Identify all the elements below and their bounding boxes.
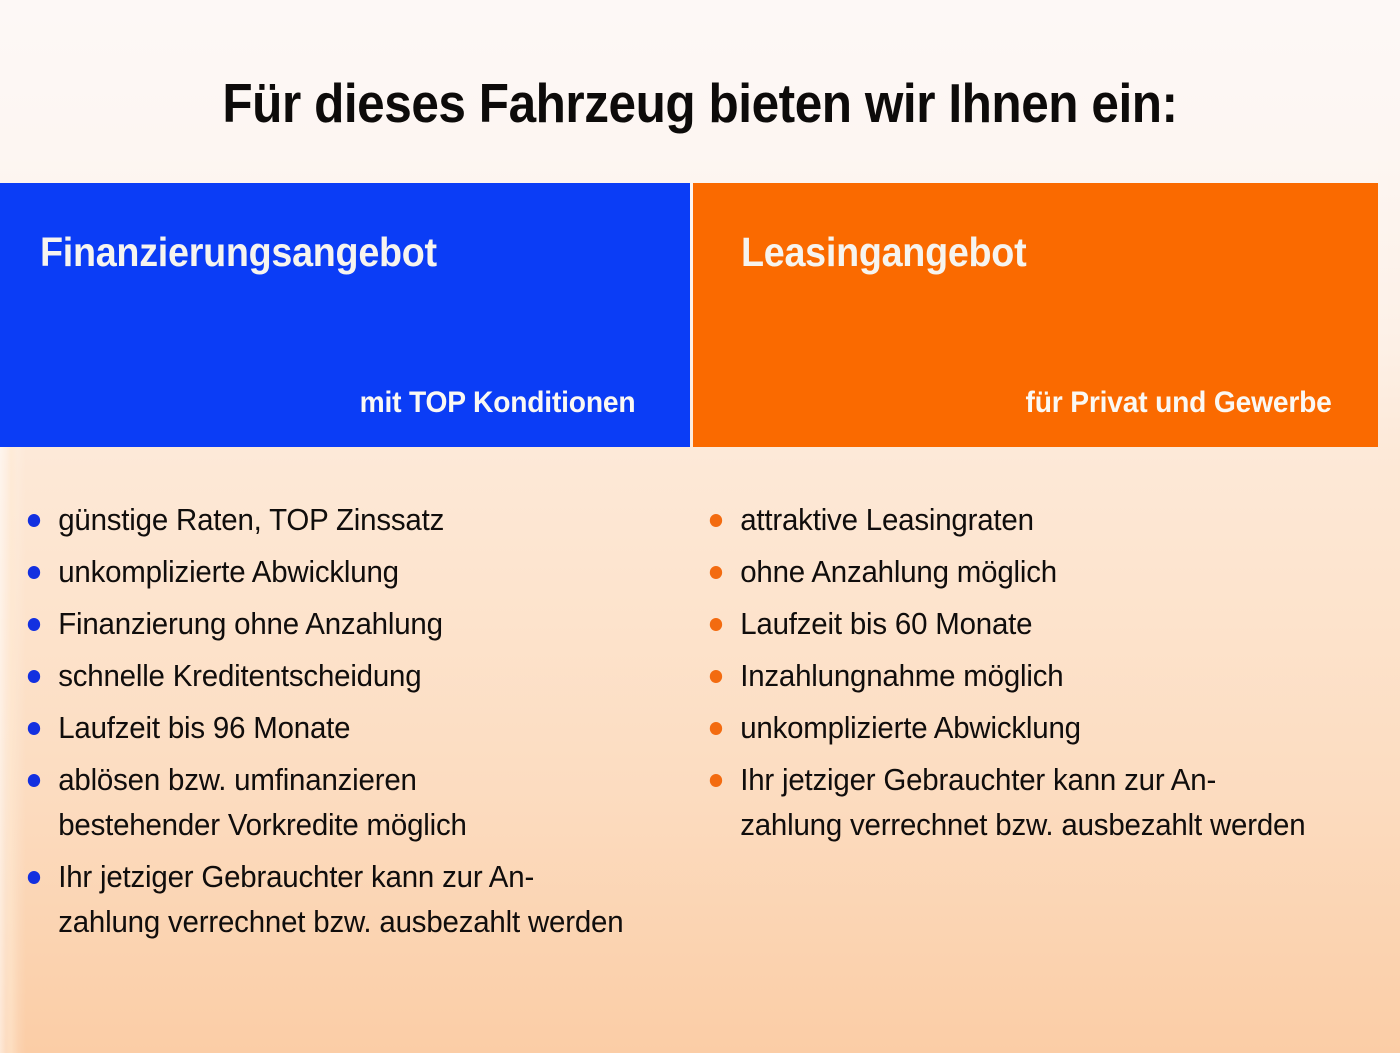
bullet-dot-icon: [28, 618, 40, 631]
bullet-dot-icon: [710, 722, 722, 735]
list-item: Laufzeit bis 60 Monate: [706, 601, 1343, 646]
list-item-line: bestehender Vorkredite möglich: [58, 802, 651, 847]
list-item-line: ablösen bzw. umfinanzieren: [58, 757, 651, 802]
list-item-line: ohne Anzahlung möglich: [740, 549, 1342, 594]
lease-benefits-list: attraktive Leasingraten ohne Anzahlung m…: [706, 497, 1376, 854]
list-item: Ihr jetziger Gebrauchter kann zur An- za…: [706, 757, 1343, 847]
bullet-dot-icon: [710, 670, 722, 683]
list-item-line: attraktive Leasingraten: [740, 497, 1342, 542]
finance-benefits-list: günstige Raten, TOP Zinssatz unkomplizie…: [24, 497, 684, 951]
bullet-dot-icon: [710, 618, 722, 631]
list-item-line: Finanzierung ohne Anzahlung: [58, 601, 651, 646]
list-item-line: günstige Raten, TOP Zinssatz: [58, 497, 651, 542]
list-item-line: Laufzeit bis 96 Monate: [58, 705, 651, 750]
bullet-dot-icon: [28, 774, 40, 787]
list-item-line: Ihr jetziger Gebrauchter kann zur An-: [58, 854, 651, 899]
list-item: schnelle Kreditentscheidung: [24, 653, 651, 698]
page-title: Für dieses Fahrzeug bieten wir Ihnen ein…: [70, 72, 1330, 134]
list-item: attraktive Leasingraten: [706, 497, 1343, 542]
list-item-line: Ihr jetziger Gebrauchter kann zur An-: [740, 757, 1342, 802]
finance-offer-panel: Finanzierungsangebot mit TOP Konditionen: [0, 183, 690, 447]
bullet-dot-icon: [28, 722, 40, 735]
list-item-line: schnelle Kreditentscheidung: [58, 653, 651, 698]
bullet-dot-icon: [28, 670, 40, 683]
list-item-line: zahlung verrechnet bzw. ausbezahlt werde…: [58, 899, 651, 944]
bullet-dot-icon: [28, 514, 40, 527]
list-item: Inzahlungnahme möglich: [706, 653, 1343, 698]
offer-poster: Für dieses Fahrzeug bieten wir Ihnen ein…: [0, 0, 1400, 1053]
bullet-dot-icon: [710, 514, 722, 527]
list-item: Ihr jetziger Gebrauchter kann zur An- za…: [24, 854, 651, 944]
list-item: Finanzierung ohne Anzahlung: [24, 601, 651, 646]
bullet-dot-icon: [28, 566, 40, 579]
list-item: unkomplizierte Abwicklung: [24, 549, 651, 594]
bullet-dot-icon: [28, 871, 40, 884]
list-item: Laufzeit bis 96 Monate: [24, 705, 651, 750]
list-item-line: zahlung verrechnet bzw. ausbezahlt werde…: [740, 802, 1342, 847]
list-item-line: Inzahlungnahme möglich: [740, 653, 1342, 698]
list-item: günstige Raten, TOP Zinssatz: [24, 497, 651, 542]
lease-panel-subheading: für Privat und Gewerbe: [1026, 385, 1332, 421]
list-item: ohne Anzahlung möglich: [706, 549, 1343, 594]
lease-panel-heading: Leasingangebot: [741, 228, 1026, 276]
lease-offer-panel: Leasingangebot für Privat und Gewerbe: [693, 183, 1378, 447]
list-item-line: Laufzeit bis 60 Monate: [740, 601, 1342, 646]
list-item-line: unkomplizierte Abwicklung: [58, 549, 651, 594]
finance-panel-subheading: mit TOP Konditionen: [359, 385, 635, 421]
bullet-dot-icon: [710, 774, 722, 787]
bullet-dot-icon: [710, 566, 722, 579]
list-item-line: unkomplizierte Abwicklung: [740, 705, 1342, 750]
finance-panel-heading: Finanzierungsangebot: [40, 228, 437, 276]
list-item: ablösen bzw. umfinanzieren bestehender V…: [24, 757, 651, 847]
list-item: unkomplizierte Abwicklung: [706, 705, 1343, 750]
